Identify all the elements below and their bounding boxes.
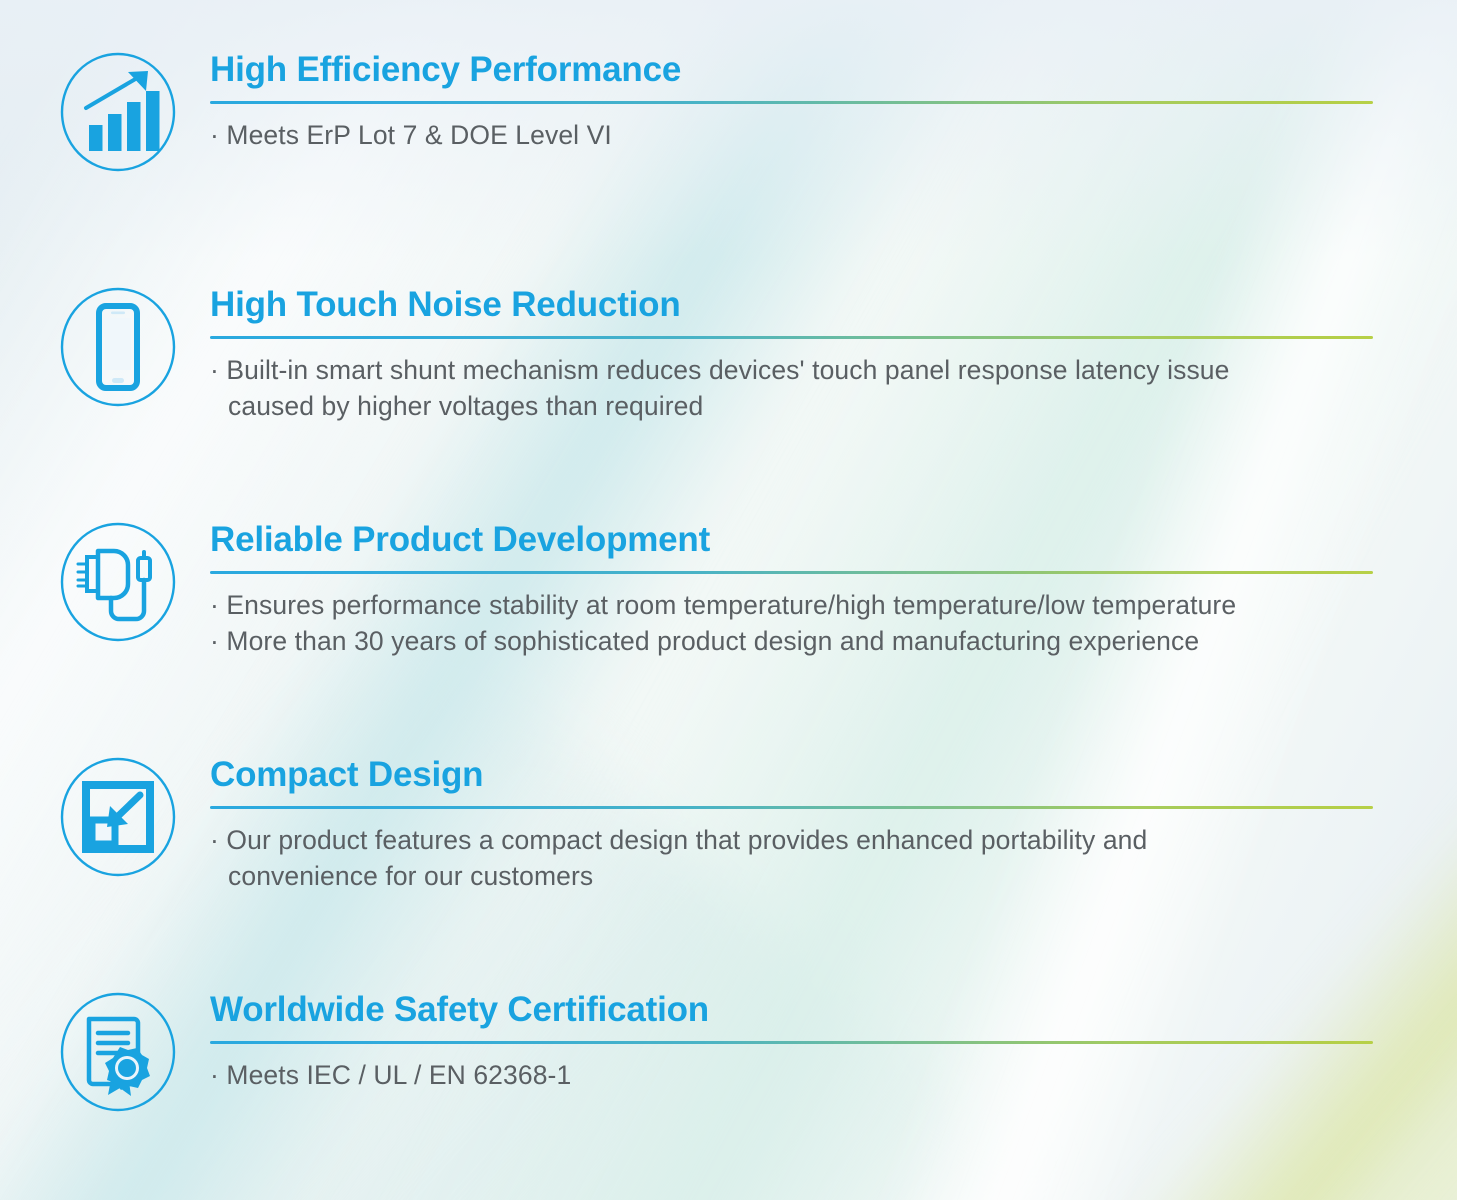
bullet-mark: · [210,626,219,656]
feature-item-worldwide-safety-certification: Worldwide Safety Certification · Meets I… [58,992,1375,1112]
feature-description: · Meets IEC / UL / EN 62368-1 [210,1057,1375,1094]
feature-line: · Meets ErP Lot 7 & DOE Level VI [210,117,1375,154]
feature-body: Compact Design · Our product features a … [210,757,1375,895]
feature-line: · Meets IEC / UL / EN 62368-1 [210,1057,1375,1094]
feature-item-high-touch-noise-reduction: High Touch Noise Reduction · Built-in sm… [58,287,1375,425]
feature-divider [210,336,1373,339]
power-adapter-icon [58,522,178,642]
feature-line-continuation: caused by higher voltages than required [210,388,1375,425]
feature-line: · Ensures performance stability at room … [210,587,1375,624]
compact-shrink-icon [58,757,178,877]
feature-description: · Meets ErP Lot 7 & DOE Level VI [210,117,1375,154]
feature-line-text: More than 30 years of sophisticated prod… [219,626,1199,656]
feature-title: Compact Design [210,757,1375,794]
bullet-mark: · [210,1060,219,1090]
feature-body: Worldwide Safety Certification · Meets I… [210,992,1375,1093]
feature-line: · More than 30 years of sophisticated pr… [210,623,1375,660]
bullet-mark: · [210,120,219,150]
feature-description: · Built-in smart shunt mechanism reduces… [210,352,1375,425]
feature-item-reliable-product-development: Reliable Product Development · Ensures p… [58,522,1375,660]
feature-line-text: Meets ErP Lot 7 & DOE Level VI [219,120,612,150]
bullet-mark: · [210,590,219,620]
feature-line-text: Ensures performance stability at room te… [219,590,1236,620]
feature-line-text: Meets IEC / UL / EN 62368-1 [219,1060,571,1090]
feature-divider [210,1041,1373,1044]
bullet-mark: · [210,825,219,855]
feature-description: · Our product features a compact design … [210,822,1375,895]
feature-item-compact-design: Compact Design · Our product features a … [58,757,1375,895]
feature-divider [210,571,1373,574]
feature-title: High Touch Noise Reduction [210,287,1375,324]
feature-divider [210,806,1373,809]
feature-list-page: High Efficiency Performance · Meets ErP … [0,0,1457,1200]
feature-line-continuation: convenience for our customers [210,858,1375,895]
feature-title: High Efficiency Performance [210,52,1375,89]
feature-line-text: Built-in smart shunt mechanism reduces d… [219,355,1230,385]
feature-line: · Our product features a compact design … [210,822,1375,895]
bullet-mark: · [210,355,219,385]
feature-title: Reliable Product Development [210,522,1375,559]
feature-line: · Built-in smart shunt mechanism reduces… [210,352,1375,425]
bar-chart-growth-icon [58,52,178,172]
feature-body: High Touch Noise Reduction · Built-in sm… [210,287,1375,425]
feature-item-high-efficiency-performance: High Efficiency Performance · Meets ErP … [58,52,1375,172]
certificate-seal-icon [58,992,178,1112]
feature-list: High Efficiency Performance · Meets ErP … [0,0,1457,1200]
feature-body: Reliable Product Development · Ensures p… [210,522,1375,660]
smartphone-icon [58,287,178,407]
feature-body: High Efficiency Performance · Meets ErP … [210,52,1375,153]
feature-description: · Ensures performance stability at room … [210,587,1375,660]
feature-line-text: Our product features a compact design th… [219,825,1147,855]
feature-divider [210,101,1373,104]
feature-title: Worldwide Safety Certification [210,992,1375,1029]
